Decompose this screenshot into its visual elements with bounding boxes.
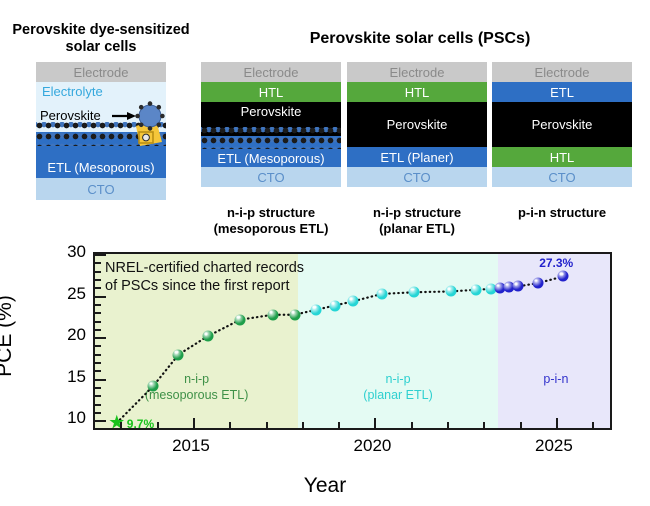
band-label-line1: p-i-n bbox=[476, 372, 612, 388]
data-point bbox=[445, 286, 456, 297]
y-tick-label: 15 bbox=[26, 367, 86, 387]
data-point bbox=[235, 314, 246, 325]
data-point bbox=[512, 281, 523, 292]
psc-stack-1-caption-line1: n-i-p structure bbox=[186, 205, 356, 221]
y-tick bbox=[95, 262, 101, 264]
data-point bbox=[558, 271, 569, 282]
y-tick bbox=[95, 345, 101, 347]
data-point bbox=[409, 287, 420, 298]
y-axis-label: PCE (%) bbox=[0, 295, 17, 377]
perovskite-callout-graphic bbox=[110, 96, 190, 160]
psc1-layer-electrode-label: Electrode bbox=[244, 66, 299, 79]
dssc-layer-cto: CTO bbox=[36, 178, 166, 200]
psc1-layer-perovskite-label: Perovskite bbox=[241, 105, 302, 118]
psc2-layer-cto-label: CTO bbox=[403, 171, 430, 184]
band-label-2: p-i-n bbox=[476, 372, 612, 388]
dssc-layer-mesoporous-label: ETL (Mesoporous) bbox=[47, 161, 154, 174]
data-point bbox=[148, 381, 159, 392]
x-tick-label: 2020 bbox=[354, 436, 392, 456]
y-tick-label: 25 bbox=[26, 284, 86, 304]
band-2 bbox=[498, 254, 612, 428]
first-report-value-label: 9.7% bbox=[127, 417, 154, 430]
y-tick bbox=[95, 362, 101, 364]
y-tick bbox=[95, 296, 106, 298]
band-label-line1: n-i-p bbox=[318, 372, 478, 388]
band-label-line2: (mesoporous ETL) bbox=[117, 388, 277, 404]
chart-annotation-line1: NREL-certified charted records bbox=[105, 259, 304, 277]
data-point bbox=[311, 304, 322, 315]
y-tick-label: 20 bbox=[26, 325, 86, 345]
x-tick bbox=[120, 422, 122, 428]
x-tick bbox=[592, 422, 594, 428]
x-tick bbox=[302, 422, 304, 428]
psc-stack-pin: Electrode ETL Perovskite HTL CTO bbox=[492, 62, 632, 187]
y-tick bbox=[95, 329, 101, 331]
psc3-layer-cto-label: CTO bbox=[548, 171, 575, 184]
dssc-layer-electrode-label: Electrode bbox=[74, 66, 129, 79]
y-tick bbox=[95, 354, 101, 356]
data-point bbox=[347, 296, 358, 307]
x-tick bbox=[520, 422, 522, 428]
psc2-layer-etl-label: ETL (Planer) bbox=[380, 151, 453, 164]
psc3-layer-electrode-label: Electrode bbox=[535, 66, 590, 79]
y-tick bbox=[95, 337, 106, 339]
band-label-line2: (planar ETL) bbox=[318, 388, 478, 404]
psc1-layer-cto: CTO bbox=[201, 167, 341, 187]
y-tick bbox=[95, 429, 101, 430]
y-tick bbox=[95, 312, 101, 314]
x-tick bbox=[411, 422, 413, 428]
data-point bbox=[471, 284, 482, 295]
psc-stack-1-caption-line2: (mesoporous ETL) bbox=[186, 221, 356, 237]
x-tick bbox=[193, 418, 195, 428]
y-tick-label: 10 bbox=[26, 408, 86, 428]
y-tick bbox=[95, 279, 101, 281]
data-point bbox=[267, 309, 278, 320]
plot-area: n-i-p(mesoporous ETL)n-i-p(planar ETL)p-… bbox=[93, 252, 612, 430]
y-tick bbox=[95, 304, 101, 306]
x-tick bbox=[483, 422, 485, 428]
data-point bbox=[202, 331, 213, 342]
x-tick bbox=[338, 422, 340, 428]
y-tick bbox=[95, 395, 101, 397]
psc-stack-2-caption-line2: (planar ETL) bbox=[332, 221, 502, 237]
psc3-layer-etl-label: ETL bbox=[550, 86, 574, 99]
psc3-layer-cto: CTO bbox=[492, 167, 632, 187]
y-tick bbox=[95, 387, 101, 389]
psc3-layer-perovskite: Perovskite bbox=[492, 102, 632, 147]
dssc-layer-electrolyte-label: Electrolyte bbox=[42, 85, 103, 98]
psc2-layer-perovskite-label: Perovskite bbox=[387, 118, 448, 131]
psc2-layer-htl: HTL bbox=[347, 82, 487, 102]
psc2-layer-etl: ETL (Planer) bbox=[347, 147, 487, 167]
psc1-layer-htl: HTL bbox=[201, 82, 341, 102]
psc3-layer-electrode: Electrode bbox=[492, 62, 632, 82]
y-tick bbox=[95, 404, 101, 406]
chart-annotation-line2: of PSCs since the first report bbox=[105, 277, 304, 295]
chart-annotation: NREL-certified charted records of PSCs s… bbox=[105, 259, 304, 295]
psc2-layer-perovskite: Perovskite bbox=[347, 102, 487, 147]
data-point bbox=[376, 288, 387, 299]
y-tick bbox=[95, 420, 106, 422]
psc3-layer-perovskite-label: Perovskite bbox=[532, 118, 593, 131]
psc3-layer-htl: HTL bbox=[492, 147, 632, 167]
x-tick-label: 2025 bbox=[535, 436, 573, 456]
psc-stack-3-caption: p-i-n structure bbox=[477, 205, 647, 221]
x-tick bbox=[229, 422, 231, 428]
y-tick-label: 30 bbox=[26, 242, 86, 262]
dssc-layer-cto-label: CTO bbox=[87, 183, 114, 196]
figure-root: Perovskite dye-sensitized solar cells El… bbox=[0, 0, 650, 506]
dssc-layer-electrode: Electrode bbox=[36, 62, 166, 82]
y-tick bbox=[95, 287, 101, 289]
y-tick bbox=[95, 271, 101, 273]
psc-stack-3-caption-line1: p-i-n structure bbox=[477, 205, 647, 221]
x-tick bbox=[157, 422, 159, 428]
psc1-layer-mesoporous: ETL (Mesoporous) bbox=[201, 136, 341, 167]
psc1-layer-electrode: Electrode bbox=[201, 62, 341, 82]
psc3-layer-etl: ETL bbox=[492, 82, 632, 102]
psc-stack-nip-planar: Electrode HTL Perovskite ETL (Planer) CT… bbox=[347, 62, 487, 187]
psc2-layer-electrode: Electrode bbox=[347, 62, 487, 82]
band-label-line1: n-i-p bbox=[117, 372, 277, 388]
psc1-layer-cto-label: CTO bbox=[257, 171, 284, 184]
psc2-layer-htl-label: HTL bbox=[405, 86, 430, 99]
data-point bbox=[173, 349, 184, 360]
band-label-1: n-i-p(planar ETL) bbox=[318, 372, 478, 403]
x-tick bbox=[556, 418, 558, 428]
band-label-0: n-i-p(mesoporous ETL) bbox=[117, 372, 277, 403]
psc2-layer-cto: CTO bbox=[347, 167, 487, 187]
psc3-layer-htl-label: HTL bbox=[550, 151, 575, 164]
data-point bbox=[329, 300, 340, 311]
first-report-star-marker: ★ bbox=[108, 413, 125, 430]
psc1-layer-perovskite: Perovskite bbox=[201, 102, 341, 136]
x-tick bbox=[374, 418, 376, 428]
y-tick bbox=[95, 370, 101, 372]
record-efficiency-label: 27.3% bbox=[539, 256, 573, 270]
y-tick bbox=[95, 254, 106, 256]
x-tick-label: 2015 bbox=[172, 436, 210, 456]
x-tick bbox=[447, 422, 449, 428]
psc-stack-1-caption: n-i-p structure (mesoporous ETL) bbox=[186, 205, 356, 237]
perovskite-callout-label: Perovskite bbox=[40, 108, 101, 123]
psc-stack-nip-mesoporous: Electrode HTL Perovskite ETL (Mesoporous… bbox=[201, 62, 341, 187]
pce-timeline-chart: PCE (%) Year 1015202530 201520202025 n-i… bbox=[0, 236, 650, 506]
psc2-layer-electrode-label: Electrode bbox=[390, 66, 445, 79]
psc1-layer-htl-label: HTL bbox=[259, 86, 284, 99]
x-tick bbox=[266, 422, 268, 428]
x-axis-label: Year bbox=[0, 474, 650, 498]
data-point bbox=[532, 278, 543, 289]
psc-section-title: Perovskite solar cells (PSCs) bbox=[200, 30, 640, 48]
dssc-title: Perovskite dye-sensitized solar cells bbox=[12, 22, 190, 56]
y-tick bbox=[95, 321, 101, 323]
data-point bbox=[289, 309, 300, 320]
y-tick bbox=[95, 412, 101, 414]
psc1-layer-mesoporous-label: ETL (Mesoporous) bbox=[217, 152, 324, 165]
y-tick bbox=[95, 379, 106, 381]
